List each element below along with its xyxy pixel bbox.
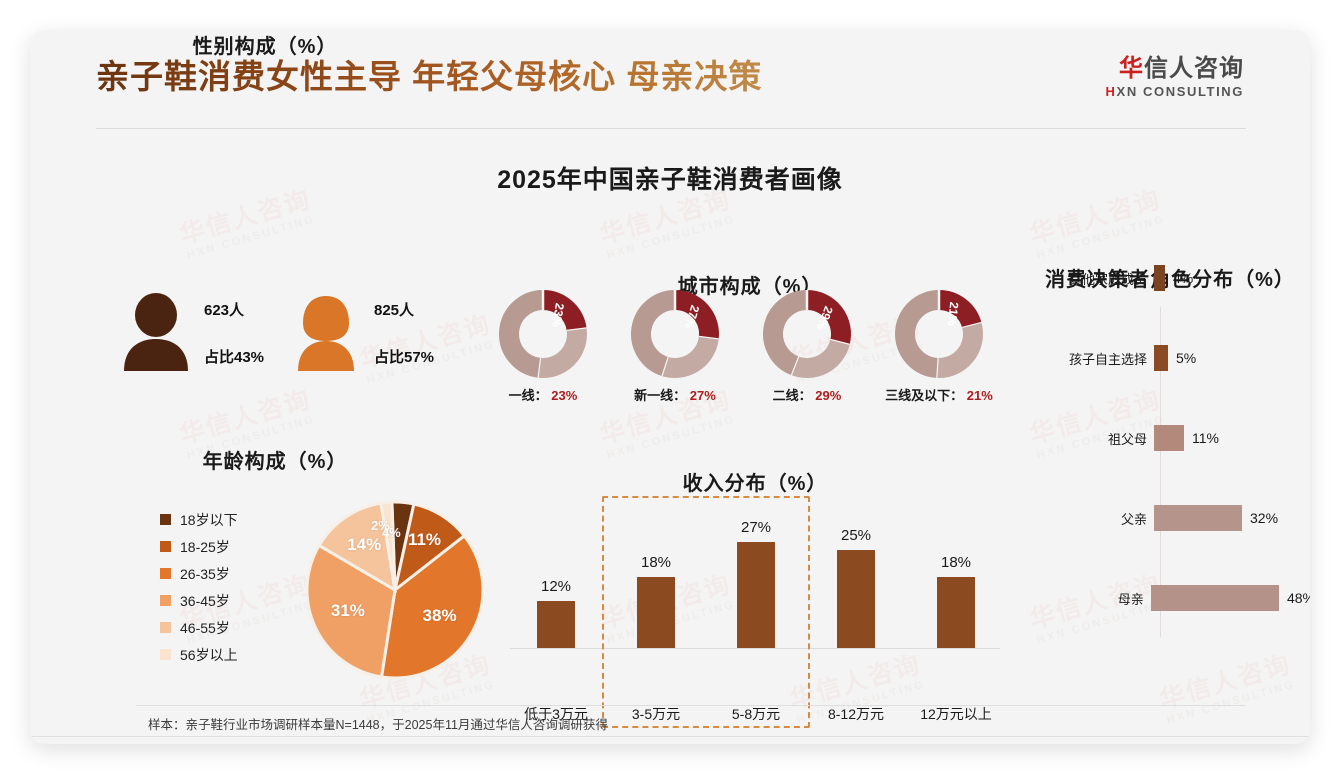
legend-swatch: [160, 514, 171, 525]
age-section: 18岁以下18-25岁26-35岁36-45岁46-55岁56岁以上 4%11%…: [100, 445, 490, 695]
age-legend-item-1: 18岁以下: [160, 507, 238, 532]
decision-row-bar: [1151, 585, 1279, 611]
income-section: 12%低于3万元18%3-5万元27%5-8万元25%8-12万元18%12万元…: [500, 460, 1010, 695]
donut-ring: 27%: [628, 287, 722, 381]
income-plot: 12%低于3万元18%3-5万元27%5-8万元25%8-12万元18%12万元…: [500, 508, 1010, 648]
donut-caption: 二线： 29%: [749, 385, 865, 404]
logo-chinese: 华信人咨询: [1106, 56, 1244, 81]
city-section: 23%一线： 23%27%新一线： 27%29%二线： 29%21%三线及以下：…: [485, 245, 1015, 410]
decision-row-value: 11%: [1192, 430, 1219, 446]
city-donut-4: 21%三线及以下： 21%: [881, 287, 997, 404]
donut-caption-value: 23%: [548, 388, 578, 403]
legend-swatch: [160, 595, 171, 606]
decision-row-value: 32%: [1250, 510, 1278, 526]
donut-ring: 29%: [760, 287, 854, 381]
male-silhouette-icon: [120, 293, 192, 371]
legend-swatch: [160, 622, 171, 633]
income-category-label-4: 8-12万元: [805, 704, 907, 724]
donut-caption-value: 21%: [963, 388, 993, 403]
legend-label: 46-55岁: [180, 618, 230, 638]
pie-slice-label-4: 31%: [331, 601, 365, 621]
decision-row-3: 祖父母11%: [1030, 425, 1310, 451]
city-donut-1: 23%一线： 23%: [485, 287, 601, 404]
decision-row-value: 5%: [1176, 350, 1196, 366]
donut-caption-name: 三线及以下：: [885, 388, 963, 403]
age-legend-item-6: 56岁以上: [160, 642, 238, 667]
pie-slice-label-3: 38%: [423, 606, 457, 626]
decision-row-bar: [1154, 265, 1165, 291]
gender-section: 623人 占比43% 825人 占比57%: [100, 245, 460, 385]
donut-caption-value: 27%: [686, 388, 716, 403]
age-legend-item-4: 36-45岁: [160, 588, 238, 613]
donut-caption: 新一线： 27%: [617, 385, 733, 404]
donut-ring: 23%: [496, 287, 590, 381]
header-divider: [96, 128, 1246, 129]
age-legend: 18岁以下18-25岁26-35岁36-45岁46-55岁56岁以上: [160, 507, 238, 669]
sample-note: 样本：亲子鞋行业市场调研样本量N=1448，于2025年11月通过华信人咨询调研…: [148, 714, 608, 733]
donut-percent-label: 21%: [945, 301, 961, 326]
income-bar-value: 12%: [510, 578, 602, 595]
pie-slice-label-5: 14%: [347, 535, 381, 555]
income-bar: [937, 577, 975, 648]
gender-female-text: 825人 占比57%: [374, 299, 434, 367]
income-bar-value: 18%: [910, 554, 1002, 571]
gender-female-share: 占比57%: [374, 346, 434, 367]
income-bar-column-4: 25%: [810, 508, 902, 648]
slide-card: 华信人咨询HXN CONSULTING华信人咨询HXN CONSULTING华信…: [30, 30, 1310, 744]
infographic-page: 华信人咨询HXN CONSULTING华信人咨询HXN CONSULTING华信…: [0, 0, 1340, 780]
logo-hua-char: 华: [1119, 55, 1144, 82]
female-silhouette-icon: [290, 293, 362, 371]
decision-row-4: 父亲32%: [1030, 505, 1310, 531]
legend-label: 56岁以上: [180, 645, 238, 665]
pie-slice-label-2: 11%: [408, 530, 441, 550]
gender-female-count: 825人: [374, 299, 434, 320]
gender-male-count: 623人: [204, 299, 264, 320]
income-bar-column-1: 12%: [510, 508, 602, 648]
decision-row-label: 其他家庭成员: [1030, 269, 1154, 288]
donut-ring: 21%: [892, 287, 986, 381]
company-logo: 华信人咨询 HXN CONSULTING: [1106, 56, 1244, 99]
decision-row-label: 祖父母: [1030, 429, 1154, 448]
watermark: 华信人咨询HXN CONSULTING: [1157, 652, 1298, 727]
income-bar: [837, 550, 875, 648]
donut-caption-value: 29%: [812, 388, 842, 403]
gender-section-title: 性别构成（%）: [125, 30, 405, 59]
legend-label: 26-35岁: [180, 564, 230, 584]
decision-row-label: 孩子自主选择: [1030, 349, 1154, 368]
age-pie-chart: 4%11%38%31%14%2%: [300, 495, 490, 685]
pie-slice-label-6: 2%: [371, 518, 390, 533]
decision-row-label: 母亲: [1030, 589, 1151, 608]
logo-en-rest: XN CONSULTING: [1117, 84, 1244, 99]
logo-english: HXN CONSULTING: [1106, 84, 1244, 99]
income-category-label-5: 12万元以上: [905, 704, 1007, 724]
legend-swatch: [160, 649, 171, 660]
income-bar: [537, 601, 575, 648]
decision-row-value: 4%: [1173, 270, 1193, 286]
decision-section: 其他家庭成员4%孩子自主选择5%祖父母11%父亲32%母亲48%: [1030, 255, 1310, 655]
decision-row-1: 其他家庭成员4%: [1030, 265, 1310, 291]
donut-caption: 一线： 23%: [485, 385, 601, 404]
chart-subtitle: 2025年中国亲子鞋消费者画像: [30, 160, 1310, 196]
donut-caption-name: 新一线：: [634, 388, 686, 403]
decision-row-2: 孩子自主选择5%: [1030, 345, 1310, 371]
donut-caption: 三线及以下： 21%: [881, 385, 997, 404]
logo-cn-rest: 信人咨询: [1144, 55, 1244, 82]
note-divider: [136, 705, 1246, 706]
decision-row-bar: [1154, 345, 1168, 371]
city-donut-3: 29%二线： 29%: [749, 287, 865, 404]
legend-label: 18岁以下: [180, 510, 238, 530]
legend-label: 36-45岁: [180, 591, 230, 611]
watermark: 华信人咨询HXN CONSULTING: [1027, 187, 1168, 262]
decision-row-value: 48%: [1287, 590, 1310, 606]
income-bar-column-5: 18%: [910, 508, 1002, 648]
income-highlight-box: [602, 496, 810, 728]
donut-caption-name: 一线：: [509, 388, 548, 403]
legend-label: 18-25岁: [180, 537, 230, 557]
donut-caption-name: 二线：: [773, 388, 812, 403]
gender-male-share: 占比43%: [204, 346, 264, 367]
income-bar-value: 25%: [810, 527, 902, 544]
footer-divider: [30, 736, 1310, 737]
logo-h-char: H: [1106, 84, 1117, 99]
age-legend-item-2: 18-25岁: [160, 534, 238, 559]
gender-male-text: 623人 占比43%: [204, 299, 264, 367]
legend-swatch: [160, 568, 171, 579]
legend-swatch: [160, 541, 171, 552]
age-legend-item-5: 46-55岁: [160, 615, 238, 640]
age-legend-item-3: 26-35岁: [160, 561, 238, 586]
decision-row-bar: [1154, 505, 1242, 531]
decision-row-label: 父亲: [1030, 509, 1154, 528]
decision-row-bar: [1154, 425, 1184, 451]
decision-row-5: 母亲48%: [1030, 585, 1310, 611]
city-donut-2: 27%新一线： 27%: [617, 287, 733, 404]
